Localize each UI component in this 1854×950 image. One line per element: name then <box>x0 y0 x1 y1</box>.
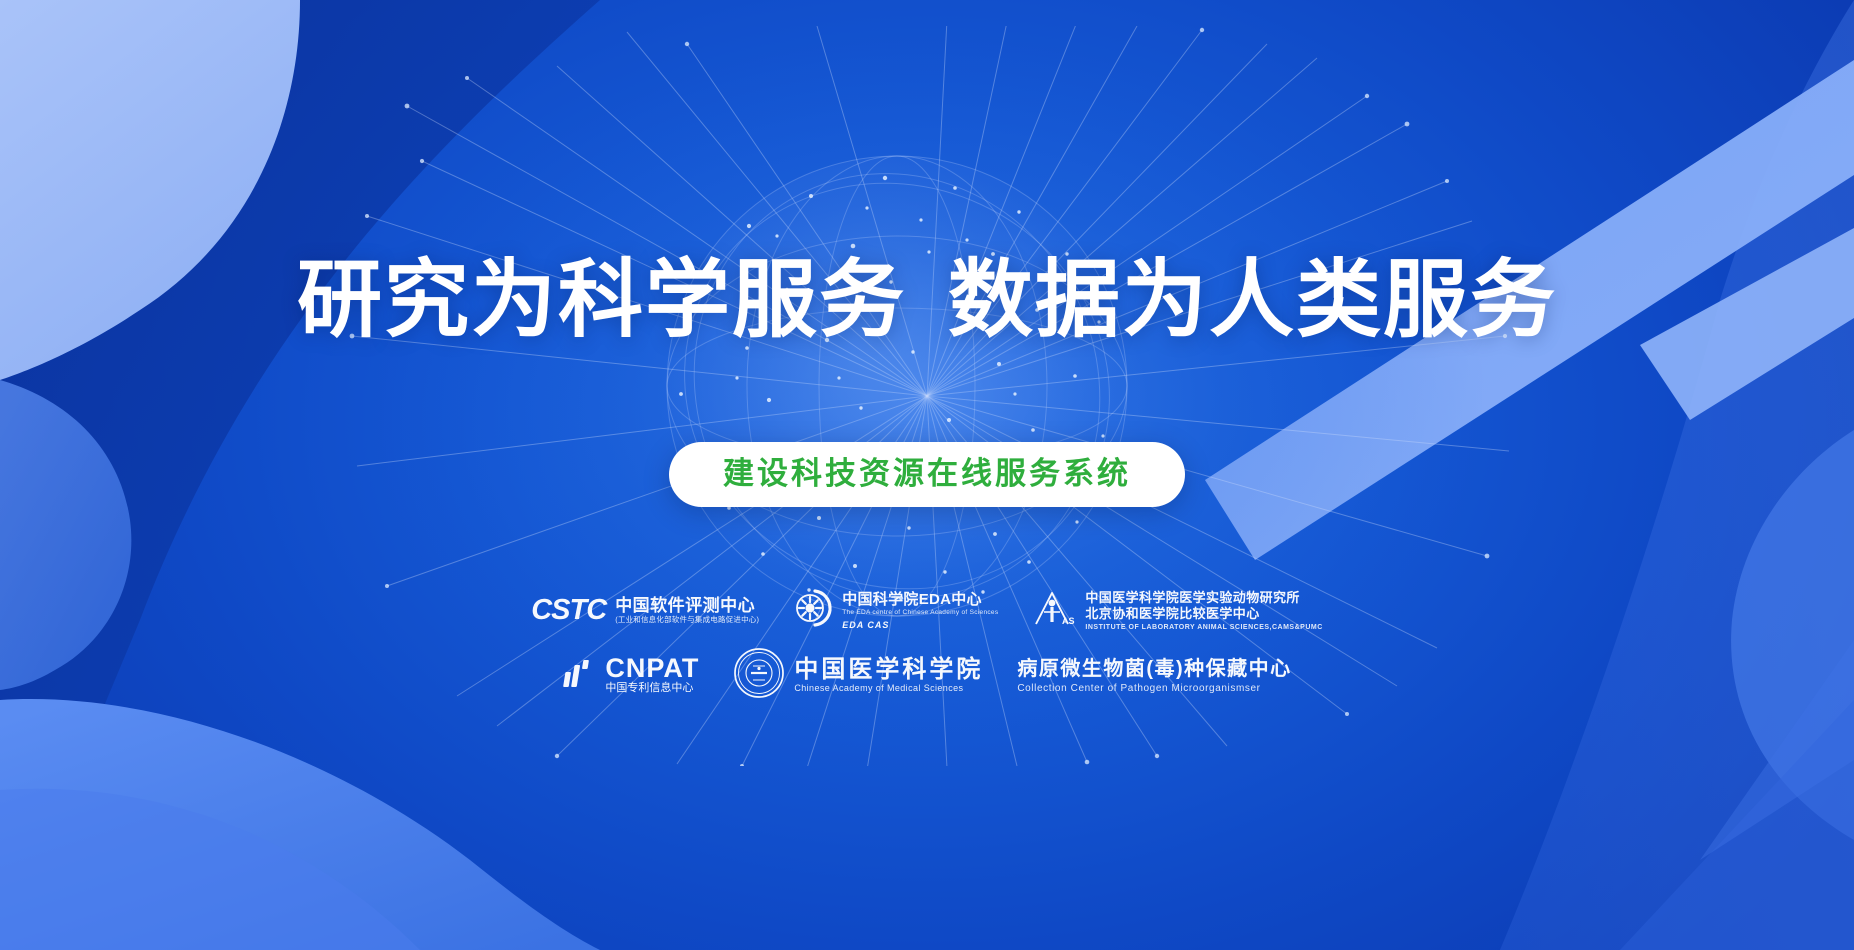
cams-name-cn: 中国医学科学院 <box>794 656 983 682</box>
partner-logo-pathogen-collection[interactable]: 病原微生物菌(毒)种保藏中心 Collection Center of Path… <box>1017 657 1291 694</box>
cams-name-en: Chinese Academy of Medical Sciences <box>794 683 983 695</box>
ilas-logo-icon: AS <box>1032 588 1076 633</box>
cstc-name-cn: 中国软件评测中心 <box>615 596 759 616</box>
cams-seal-icon <box>733 647 785 704</box>
cnpat-name-cn: 中国专利信息中心 <box>605 682 699 696</box>
eda-cas-name-cn: 中国科学院EDA中心 <box>842 591 998 609</box>
partner-logo-eda-cas[interactable]: 中国科学院EDA中心 The EDA centre of Chinese Aca… <box>793 588 998 633</box>
partner-logo-cstc[interactable]: CSTC 中国软件评测中心 (工业和信息化部软件与集成电路促进中心) <box>531 596 759 625</box>
partner-logo-row-1: CSTC 中国软件评测中心 (工业和信息化部软件与集成电路促进中心) <box>531 588 1323 633</box>
eda-cas-logo-icon <box>793 588 833 633</box>
pathogen-name-cn: 病原微生物菌(毒)种保藏中心 <box>1017 657 1291 681</box>
eda-cas-abbr: EDA CAS <box>842 620 998 630</box>
banner-hero: 研究为科学服务数据为人类服务 建设科技资源在线服务系统 CSTC 中国软件评测中… <box>0 0 1854 950</box>
ilas-name-cn-line1: 中国医学科学院医学实验动物研究所 <box>1085 590 1322 606</box>
cnpat-logo-icon <box>562 656 596 695</box>
headline-right: 数据为人类服务 <box>948 253 1557 348</box>
cta-pill-button[interactable]: 建设科技资源在线服务系统 <box>669 442 1185 507</box>
eda-cas-name-en: The EDA centre of Chinese Academy of Sci… <box>842 609 998 617</box>
partner-logo-cnpat[interactable]: CNPAT 中国专利信息中心 <box>562 655 699 696</box>
pathogen-name-en: Collection Center of Pathogen Microorgan… <box>1017 683 1291 694</box>
cstc-wordmark: CSTC <box>531 596 606 625</box>
ilas-name-en: INSTITUTE OF LABORATORY ANIMAL SCIENCES,… <box>1085 624 1322 631</box>
partner-logo-row-2: CNPAT 中国专利信息中心 <box>562 647 1291 704</box>
cnpat-wordmark: CNPAT <box>605 655 699 682</box>
partner-logo-cams[interactable]: 中国医学科学院 Chinese Academy of Medical Scien… <box>733 647 983 704</box>
ilas-name-cn-line2: 北京协和医学院比较医学中心 <box>1085 606 1322 622</box>
headline-left: 研究为科学服务 <box>297 253 906 348</box>
partner-logo-band: CSTC 中国软件评测中心 (工业和信息化部软件与集成电路促进中心) <box>0 588 1854 704</box>
page-title: 研究为科学服务数据为人类服务 <box>0 258 1854 343</box>
svg-text:AS: AS <box>1062 616 1075 626</box>
partner-logo-ilas[interactable]: AS 中国医学科学院医学实验动物研究所 北京协和医学院比较医学中心 INSTIT… <box>1032 588 1322 633</box>
cstc-name-cn-sub: (工业和信息化部软件与集成电路促进中心) <box>615 615 759 625</box>
cta-pill-label: 建设科技资源在线服务系统 <box>723 458 1131 489</box>
